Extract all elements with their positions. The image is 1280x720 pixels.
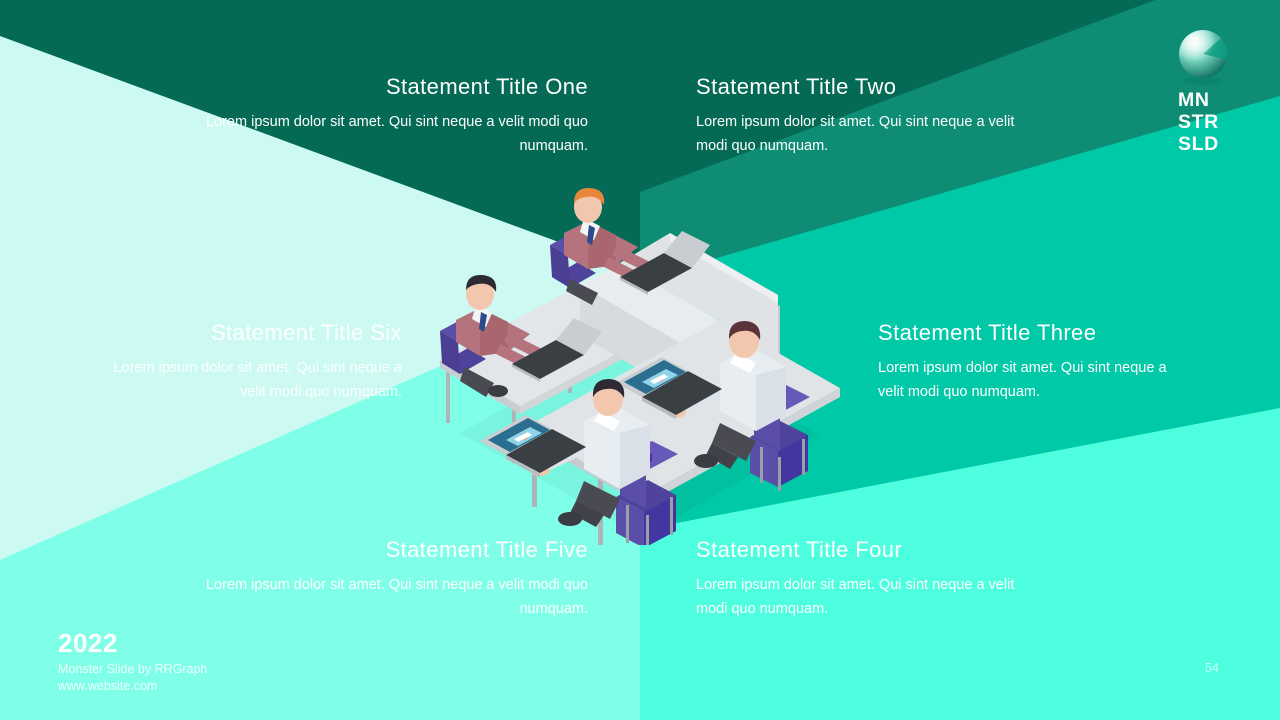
statement-block-two: Statement Title Two Lorem ipsum dolor si… bbox=[696, 74, 1026, 158]
isometric-office-illustration bbox=[420, 185, 870, 545]
statement-three-title: Statement Title Three bbox=[878, 320, 1168, 345]
slide-canvas: Statement Title One Lorem ipsum dolor si… bbox=[0, 0, 1280, 720]
statement-two-body: Lorem ipsum dolor sit amet. Qui sint neq… bbox=[696, 111, 1026, 158]
logo-wordmark: MN STR SLD bbox=[1178, 90, 1219, 155]
statement-three-body: Lorem ipsum dolor sit amet. Qui sint neq… bbox=[878, 357, 1168, 404]
statement-block-one: Statement Title One Lorem ipsum dolor si… bbox=[196, 74, 588, 158]
statement-five-body: Lorem ipsum dolor sit amet. Qui sint neq… bbox=[196, 574, 588, 621]
statement-block-three: Statement Title Three Lorem ipsum dolor … bbox=[878, 320, 1168, 404]
statement-five-title: Statement Title Five bbox=[196, 537, 588, 562]
statement-one-title: Statement Title One bbox=[196, 74, 588, 99]
sphere-logo-icon bbox=[1176, 26, 1230, 86]
statement-six-title: Statement Title Six bbox=[110, 320, 402, 345]
brand-logo[interactable]: MN STR SLD bbox=[1176, 26, 1268, 166]
logo-line-1: MN bbox=[1178, 90, 1219, 112]
shoe-right bbox=[694, 454, 718, 468]
logo-line-2: STR bbox=[1178, 112, 1219, 134]
logo-line-3: SLD bbox=[1178, 134, 1219, 156]
shoe-left bbox=[488, 385, 508, 397]
footer-credits: Monster Slide by RRGraph www.website.com bbox=[58, 661, 207, 695]
footer-line-2: www.website.com bbox=[58, 678, 207, 695]
statement-block-four: Statement Title Four Lorem ipsum dolor s… bbox=[696, 537, 1026, 621]
statement-block-six: Statement Title Six Lorem ipsum dolor si… bbox=[110, 320, 402, 404]
statement-four-title: Statement Title Four bbox=[696, 537, 1026, 562]
statement-two-title: Statement Title Two bbox=[696, 74, 1026, 99]
statement-six-body: Lorem ipsum dolor sit amet. Qui sint neq… bbox=[110, 357, 402, 404]
statement-block-five: Statement Title Five Lorem ipsum dolor s… bbox=[196, 537, 588, 621]
page-number: 54 bbox=[1205, 661, 1219, 675]
footer-line-1: Monster Slide by RRGraph bbox=[58, 661, 207, 678]
statement-one-body: Lorem ipsum dolor sit amet. Qui sint neq… bbox=[196, 111, 588, 158]
statement-four-body: Lorem ipsum dolor sit amet. Qui sint neq… bbox=[696, 574, 1026, 621]
year-label: 2022 bbox=[58, 628, 118, 659]
shoe-front bbox=[558, 512, 582, 526]
